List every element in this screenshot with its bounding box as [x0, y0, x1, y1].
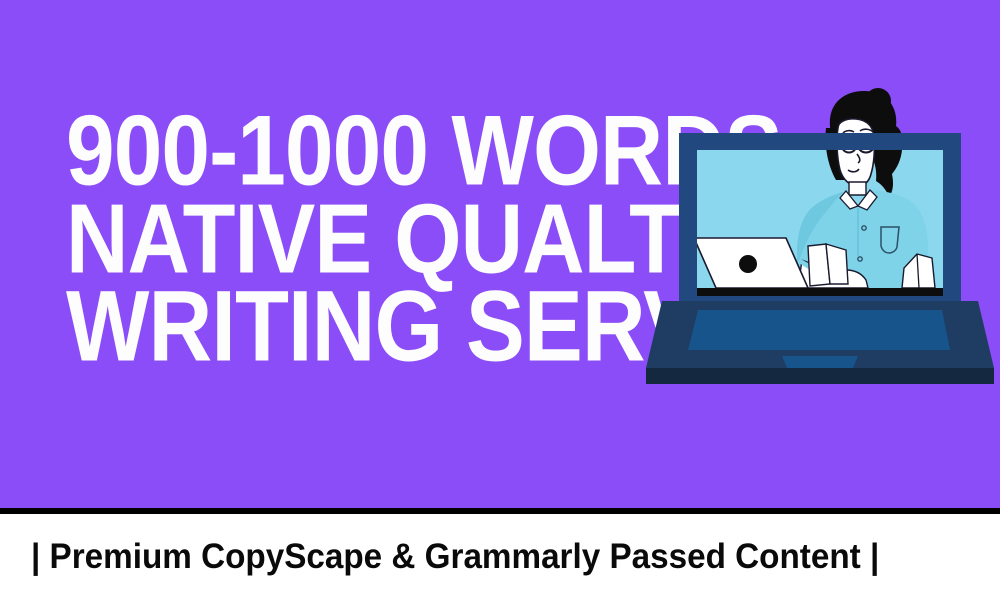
page-title: 900-1000 WORDS NATIVE QUALTIY WRITING SE…	[66, 104, 646, 368]
footer-tagline: | Premium CopyScape & Grammarly Passed C…	[31, 537, 879, 577]
hero-panel: 900-1000 WORDS NATIVE QUALTIY WRITING SE…	[0, 0, 1000, 508]
headline-line-3: WRITING SERVICE	[66, 280, 605, 373]
big-laptop-foot-icon	[646, 368, 994, 384]
small-laptop-logo-icon	[739, 255, 757, 273]
laptop-illustration	[640, 88, 1000, 400]
banner-image: 900-1000 WORDS NATIVE QUALTIY WRITING SE…	[0, 0, 1000, 600]
paper-pages-icon	[808, 244, 848, 286]
screen-bottom-bar-icon	[697, 288, 943, 296]
footer-bar: | Premium CopyScape & Grammarly Passed C…	[0, 514, 1000, 600]
woman-neck-icon	[849, 182, 866, 195]
big-laptop-trackpad-icon	[782, 356, 858, 370]
big-laptop-keyboard-icon	[688, 310, 950, 350]
